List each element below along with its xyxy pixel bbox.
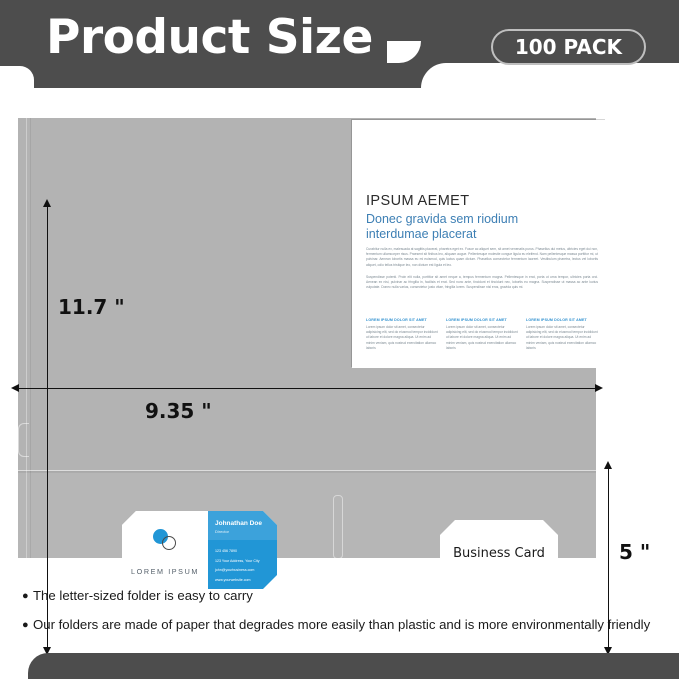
business-card-person-role: Director bbox=[215, 529, 229, 534]
folder-pocket-fold-shadow bbox=[18, 471, 596, 473]
feature-bullet-list: ● The letter-sized folder is easy to car… bbox=[0, 588, 679, 646]
folder-illustration: IPSUM AEMET Donec gravida sem riodium in… bbox=[0, 88, 679, 575]
width-dimension-line bbox=[18, 388, 596, 389]
width-dimension-label: 9.35 " bbox=[145, 399, 212, 423]
feature-bullet-item: ● The letter-sized folder is easy to car… bbox=[0, 588, 679, 604]
document-column-body: Lorem ipsum dolor sit amet, consectetur … bbox=[526, 325, 598, 351]
business-card-slot: Business Card bbox=[440, 520, 558, 586]
feature-bullet-text: Our folders are made of paper that degra… bbox=[33, 617, 650, 633]
header-left-notch bbox=[0, 66, 34, 88]
bullet-dot-icon: ● bbox=[22, 588, 33, 604]
business-card-front: LOREM IPSUM bbox=[122, 511, 208, 589]
folder-right-slot bbox=[333, 495, 343, 559]
pack-count-badge: 100 PACK bbox=[491, 29, 646, 65]
page-title: Product Size bbox=[46, 10, 373, 65]
document-column-body: Lorem ipsum dolor sit amet, consectetur … bbox=[366, 325, 438, 351]
bullet-dot-icon: ● bbox=[22, 617, 33, 633]
feature-bullet-text: The letter-sized folder is easy to carry bbox=[33, 588, 253, 604]
document-body: Curabitur nulla ex, malesuada at sagitti… bbox=[366, 247, 598, 297]
document-paragraph-2: Suspendisse potenti. Proin elit nulla, p… bbox=[366, 275, 598, 291]
business-card-contact-website: www.yourwebsite.com bbox=[215, 576, 260, 586]
height-dimension-label: 11.7 " bbox=[58, 295, 125, 319]
header-banner: Product Size 100 PACK bbox=[0, 0, 679, 88]
document-column: LOREM IPSUM DOLOR SIT AMET Lorem ipsum d… bbox=[366, 318, 438, 351]
business-card-brand: LOREM IPSUM bbox=[122, 567, 208, 576]
feature-bullet-item: ● Our folders are made of paper that deg… bbox=[0, 617, 679, 633]
arrow-up-icon bbox=[604, 461, 612, 469]
footer-bar-fill bbox=[28, 653, 679, 679]
pocket-height-dimension-label: 5 " bbox=[619, 540, 650, 564]
arrow-right-icon bbox=[595, 384, 603, 392]
footer-bar bbox=[0, 653, 679, 679]
business-card-contact-list: 123 456 7890 123 Your Address, Your City… bbox=[215, 547, 260, 585]
document-subtitle: Donec gravida sem riodium interdumae pla… bbox=[366, 212, 576, 242]
height-dimension-line bbox=[47, 206, 48, 648]
business-card-person-name: Johnathan Doe bbox=[215, 520, 262, 527]
business-card-slot-label: Business Card bbox=[453, 546, 545, 561]
document-column: LOREM IPSUM DOLOR SIT AMET Lorem ipsum d… bbox=[526, 318, 598, 351]
business-card-contact-email: john@yourbusiness.com bbox=[215, 566, 260, 576]
header-swoop bbox=[421, 63, 679, 88]
business-card-logo-icon bbox=[153, 529, 179, 551]
business-card-back: Johnathan Doe Director 123 456 7890 123 … bbox=[208, 511, 277, 589]
document-column-heading: LOREM IPSUM DOLOR SIT AMET bbox=[366, 318, 438, 322]
arrow-left-icon bbox=[11, 384, 19, 392]
business-card-contact-address: 123 Your Address, Your City bbox=[215, 557, 260, 567]
document-column-heading: LOREM IPSUM DOLOR SIT AMET bbox=[526, 318, 598, 322]
document-title: IPSUM AEMET bbox=[366, 193, 470, 209]
folder-left-fold-tab bbox=[18, 423, 29, 457]
arrow-up-icon bbox=[43, 199, 51, 207]
business-card-contact-phone: 123 456 7890 bbox=[215, 547, 260, 557]
document-column-body: Lorem ipsum dolor sit amet, consectetur … bbox=[446, 325, 518, 351]
business-card: LOREM IPSUM Johnathan Doe Director 123 4… bbox=[122, 511, 277, 589]
document-column: LOREM IPSUM DOLOR SIT AMET Lorem ipsum d… bbox=[446, 318, 518, 351]
document-paragraph-1: Curabitur nulla ex, malesuada at sagitti… bbox=[366, 247, 598, 268]
document-column-heading: LOREM IPSUM DOLOR SIT AMET bbox=[446, 318, 518, 322]
document-columns: LOREM IPSUM DOLOR SIT AMET Lorem ipsum d… bbox=[366, 318, 598, 351]
inner-document-sheet: IPSUM AEMET Donec gravida sem riodium in… bbox=[352, 120, 606, 368]
logo-outline-circle bbox=[162, 536, 176, 550]
